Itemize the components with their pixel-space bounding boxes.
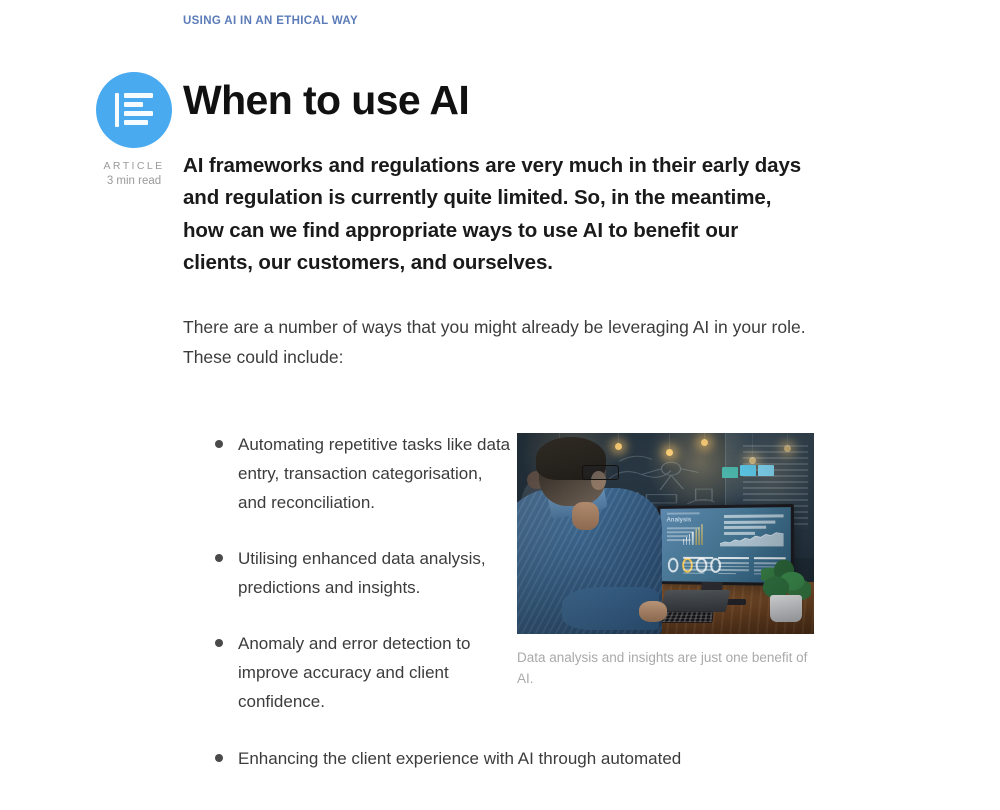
page-title: When to use AI: [183, 78, 828, 124]
potted-plant: [761, 562, 811, 622]
article-badge-kind: ARTICLE: [86, 160, 182, 172]
dashboard-title: Analysis: [667, 517, 692, 524]
list-item: Enhancing the client experience with AI …: [205, 744, 805, 773]
article-badge-circle: [96, 72, 172, 148]
article-figure: Analysis: [517, 433, 814, 690]
article-lines-icon: [115, 90, 153, 130]
dashboard-area-chart: [720, 530, 784, 547]
article-page: USING AI IN AN ETHICAL WAY ARTICLE 3 min…: [0, 0, 1000, 810]
list-item: Automating repetitive tasks like data en…: [205, 430, 515, 517]
laptop: [660, 590, 730, 612]
article-content: When to use AI AI frameworks and regulat…: [183, 78, 828, 372]
list-item: Anomaly and error detection to improve a…: [205, 629, 515, 716]
figure-caption: Data analysis and insights are just one …: [517, 648, 809, 690]
dashboard-bar-chart: [683, 525, 711, 546]
sticky-note: [740, 465, 756, 476]
article-read-time: 3 min read: [86, 175, 182, 187]
sticky-note: [758, 465, 774, 476]
article-badge: ARTICLE 3 min read: [86, 72, 182, 187]
person-at-desk: [517, 437, 666, 634]
article-lede: AI frameworks and regulations are very m…: [183, 150, 808, 280]
sticky-note: [722, 467, 738, 478]
eyebrow-category[interactable]: USING AI IN AN ETHICAL WAY: [183, 15, 358, 27]
benefits-list: Automating repetitive tasks like data en…: [205, 430, 515, 800]
article-photo: Analysis: [517, 433, 814, 634]
eyeglasses-icon: [582, 465, 619, 481]
article-intro: There are a number of ways that you migh…: [183, 313, 808, 372]
list-item: Utilising enhanced data analysis, predic…: [205, 544, 515, 602]
